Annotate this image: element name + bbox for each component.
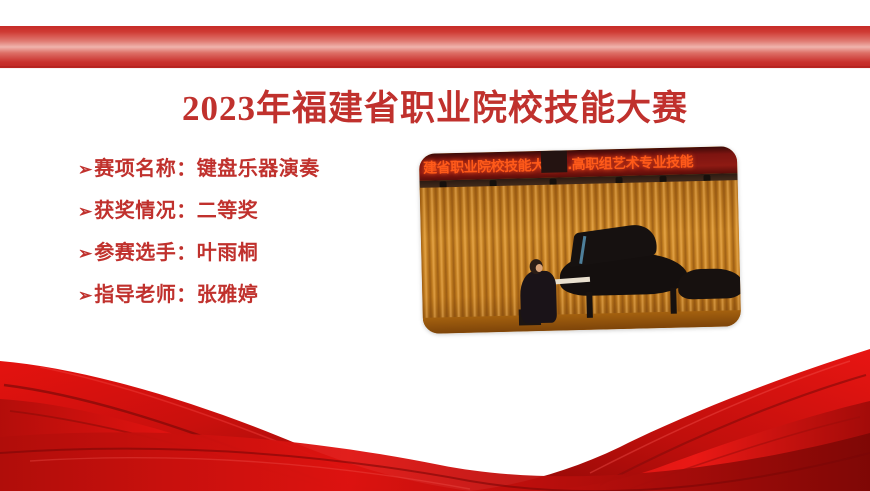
presentation-slide: 2023年福建省职业院校技能大赛 ➢ 赛项名称： 键盘乐器演奏 ➢ 获奖情况： … (0, 0, 870, 491)
list-item: ➢ 参赛选手： 叶雨桐 (78, 236, 408, 265)
competition-photo: 建省职业院校技能大赛…高职组艺术专业技能 (419, 146, 741, 334)
list-item-label: 获奖情况： (94, 194, 197, 223)
grand-piano-leg (586, 292, 593, 318)
photo-frame: 建省职业院校技能大赛…高职组艺术专业技能 (419, 146, 741, 334)
top-ribbon-shadow (0, 66, 870, 69)
grand-piano-leg (670, 288, 677, 314)
list-item: ➢ 指导老师： 张雅婷 (78, 278, 408, 307)
performer-body (520, 271, 557, 324)
top-red-ribbon-decoration (0, 26, 870, 68)
list-item: ➢ 获奖情况： 二等奖 (78, 194, 408, 223)
second-piano (678, 268, 741, 300)
page-title: 2023年福建省职业院校技能大赛 (0, 80, 870, 131)
award-info-list: ➢ 赛项名称： 键盘乐器演奏 ➢ 获奖情况： 二等奖 ➢ 参赛选手： 叶雨桐 ➢… (78, 152, 408, 320)
list-item-label: 赛项名称： (94, 152, 197, 181)
led-banner-obstruction (541, 150, 568, 173)
list-item-value: 二等奖 (197, 194, 259, 223)
bottom-red-ribbon-decoration (0, 341, 870, 491)
list-item-label: 参赛选手： (94, 236, 197, 265)
arrow-bullet-icon: ➢ (78, 245, 92, 262)
list-item-value: 叶雨桐 (197, 236, 259, 265)
list-item-value: 键盘乐器演奏 (197, 152, 320, 181)
list-item: ➢ 赛项名称： 键盘乐器演奏 (78, 152, 408, 181)
arrow-bullet-icon: ➢ (78, 161, 92, 178)
list-item-label: 指导老师： (94, 278, 197, 307)
arrow-bullet-icon: ➢ (78, 287, 92, 304)
list-item-value: 张雅婷 (197, 278, 259, 307)
arrow-bullet-icon: ➢ (78, 203, 92, 220)
